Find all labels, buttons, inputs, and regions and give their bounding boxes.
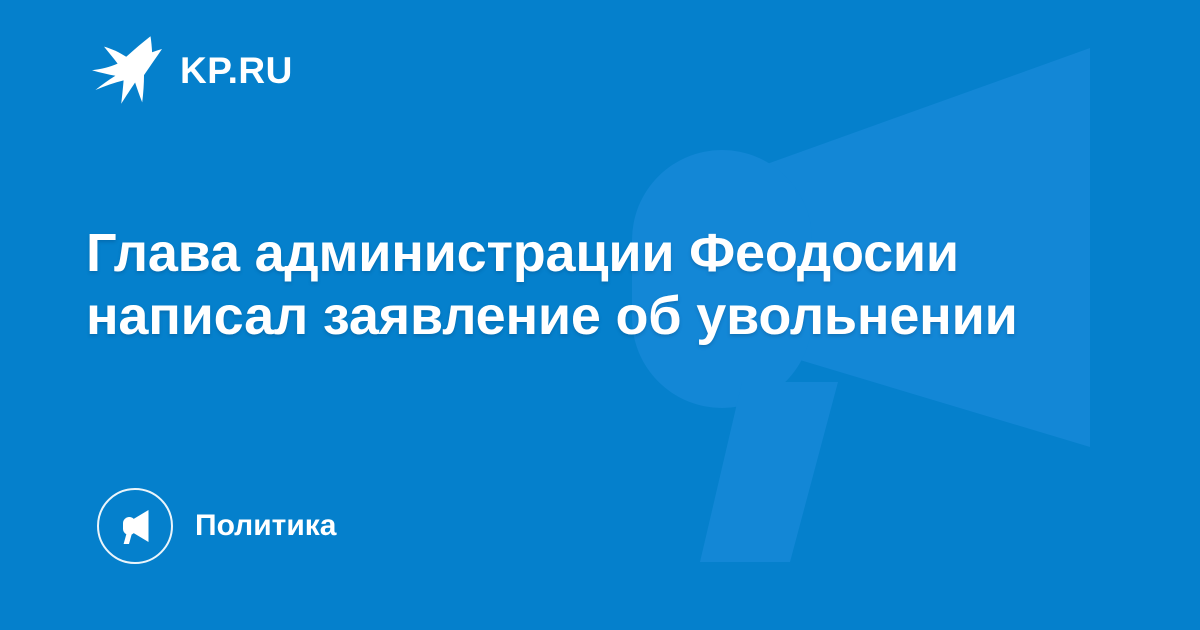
page-title-line-1: Глава администрации Феодосии xyxy=(86,222,1086,285)
page-title: Глава администрации Феодосии написал зая… xyxy=(86,222,1086,348)
swallow-bird-icon xyxy=(88,35,162,105)
category-icon-circle xyxy=(97,488,173,564)
category-label: Политика xyxy=(195,511,336,541)
social-share-card: KP.RU Глава администрации Феодосии напис… xyxy=(0,0,1200,630)
megaphone-icon xyxy=(115,506,155,546)
brand-lockup[interactable]: KP.RU xyxy=(88,34,293,106)
category-badge[interactable]: Политика xyxy=(97,485,336,567)
page-title-line-2: написал заявление об увольнении xyxy=(86,285,1086,348)
brand-name: KP.RU xyxy=(180,52,293,89)
